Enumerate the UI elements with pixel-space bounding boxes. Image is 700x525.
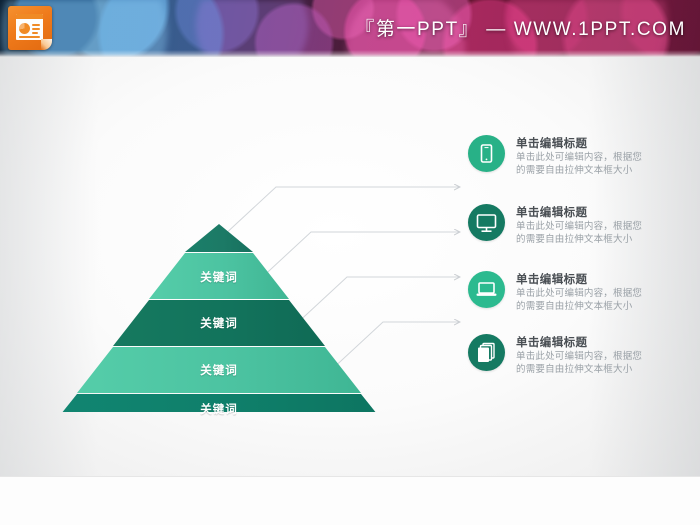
pyramid-diagram[interactable]: 关键词 关键词 关键词 关键词 — [55, 162, 385, 412]
mobile-phone-icon — [468, 135, 505, 172]
item-desc-line-2: 的需要自由拉伸文本框大小 — [516, 300, 684, 313]
header-fade-divider — [0, 50, 700, 57]
list-item[interactable]: 单击编辑标题 单击此处可编辑内容，根据您 的需要自由拉伸文本框大小 — [468, 334, 683, 394]
header-title: 『第一PPT』 — WWW.1PPT.COM — [355, 14, 686, 41]
laptop-icon — [468, 271, 505, 308]
pyramid-label-2: 关键词 — [159, 269, 279, 285]
desktop-monitor-icon — [468, 204, 505, 241]
item-title: 单击编辑标题 — [516, 334, 587, 350]
slide-canvas: 关键词 关键词 关键词 关键词 单击编辑标题 单击此处可编辑内容，根据您 的需要… — [0, 57, 700, 476]
item-desc-line-2: 的需要自由拉伸文本框大小 — [516, 164, 684, 177]
pyramid-level-1 — [185, 224, 253, 252]
item-description: 单击此处可编辑内容，根据您 的需要自由拉伸文本框大小 — [516, 350, 684, 376]
item-desc-line-1: 单击此处可编辑内容，根据您 — [516, 220, 684, 233]
site-footer: 第一PPT HTTP://WWW.1PPT.COM — [0, 476, 700, 525]
list-item[interactable]: 单击编辑标题 单击此处可编辑内容，根据您 的需要自由拉伸文本框大小 — [468, 271, 683, 331]
item-desc-line-2: 的需要自由拉伸文本框大小 — [516, 363, 684, 376]
site-header-banner: 『第一PPT』 — WWW.1PPT.COM — [0, 0, 700, 57]
item-desc-line-1: 单击此处可编辑内容，根据您 — [516, 151, 684, 164]
pyramid-label-4: 关键词 — [159, 362, 279, 378]
powerpoint-file-icon — [8, 6, 52, 50]
item-description: 单击此处可编辑内容，根据您 的需要自由拉伸文本框大小 — [516, 151, 684, 177]
item-desc-line-2: 的需要自由拉伸文本框大小 — [516, 233, 684, 246]
item-description: 单击此处可编辑内容，根据您 的需要自由拉伸文本框大小 — [516, 220, 684, 246]
powerpoint-logo-card — [16, 14, 43, 40]
documents-stack-icon — [468, 334, 505, 371]
list-item[interactable]: 单击编辑标题 单击此处可编辑内容，根据您 的需要自由拉伸文本框大小 — [468, 135, 683, 195]
list-item[interactable]: 单击编辑标题 单击此处可编辑内容，根据您 的需要自由拉伸文本框大小 — [468, 204, 683, 264]
pyramid-label-5: 关键词 — [159, 401, 279, 417]
pyramid-label-3: 关键词 — [159, 315, 279, 331]
item-title: 单击编辑标题 — [516, 135, 587, 151]
item-desc-line-1: 单击此处可编辑内容，根据您 — [516, 287, 684, 300]
item-title: 单击编辑标题 — [516, 271, 587, 287]
item-desc-line-1: 单击此处可编辑内容，根据您 — [516, 350, 684, 363]
item-description: 单击此处可编辑内容，根据您 的需要自由拉伸文本框大小 — [516, 287, 684, 313]
slide-screenshot: 『第一PPT』 — WWW.1PPT.COM — [0, 0, 700, 525]
item-title: 单击编辑标题 — [516, 204, 587, 220]
